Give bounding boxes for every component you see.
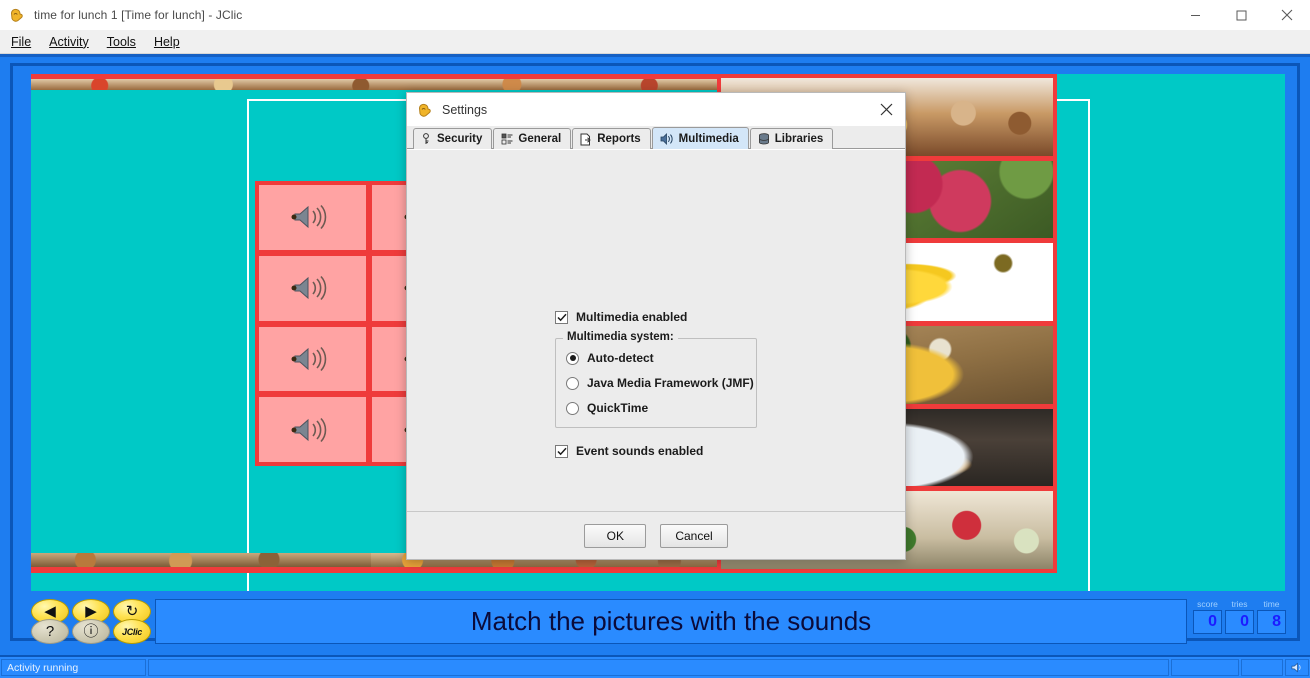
menu-activity-label: Activity bbox=[49, 35, 89, 49]
menu-file[interactable]: File bbox=[8, 33, 42, 51]
report-icon bbox=[580, 133, 592, 146]
dialog-close-icon[interactable] bbox=[871, 96, 901, 124]
jclic-logo-icon: JClic bbox=[122, 627, 142, 637]
multimedia-enabled-label: Multimedia enabled bbox=[576, 310, 687, 324]
quicktime-radio[interactable] bbox=[566, 402, 579, 415]
top-photo-strip bbox=[31, 74, 718, 90]
status-slot-b bbox=[1241, 659, 1283, 676]
tries-counter: tries 0 bbox=[1225, 599, 1254, 644]
score-label: score bbox=[1197, 599, 1218, 610]
multimedia-system-group: Multimedia system: Auto-detect Java Medi… bbox=[555, 338, 757, 428]
auto-detect-label: Auto-detect bbox=[587, 351, 654, 365]
database-icon bbox=[758, 133, 770, 145]
dialog-title-text: Settings bbox=[442, 103, 487, 117]
sound-cell[interactable] bbox=[259, 256, 366, 321]
radio-dot bbox=[570, 355, 576, 361]
tab-reports-label: Reports bbox=[597, 133, 640, 145]
ok-button[interactable]: OK bbox=[584, 524, 646, 548]
close-icon[interactable] bbox=[1264, 0, 1310, 30]
settings-dialog: Settings Security General bbox=[406, 92, 906, 560]
multimedia-enabled-row[interactable]: Multimedia enabled bbox=[555, 310, 765, 324]
menu-bar: File Activity Tools Help bbox=[0, 30, 1310, 54]
radio-row-auto-detect[interactable]: Auto-detect bbox=[566, 351, 746, 365]
question-mark-icon: ? bbox=[46, 624, 54, 639]
key-icon bbox=[421, 133, 432, 145]
score-counter: score 0 bbox=[1193, 599, 1222, 644]
time-value: 8 bbox=[1257, 610, 1286, 634]
info-icon: ⓘ bbox=[83, 624, 98, 639]
tab-general[interactable]: General bbox=[493, 128, 571, 149]
menu-tools[interactable]: Tools bbox=[104, 33, 147, 51]
activity-message-box: Match the pictures with the sounds bbox=[155, 599, 1187, 644]
dialog-body: Multimedia enabled Multimedia system: Au… bbox=[407, 149, 905, 511]
menu-help-label: Help bbox=[154, 35, 180, 49]
jclic-icon bbox=[9, 7, 25, 23]
speaker-icon bbox=[660, 133, 674, 145]
bottom-photo-strip-left bbox=[31, 553, 371, 573]
tab-security[interactable]: Security bbox=[413, 128, 492, 149]
menu-activity[interactable]: Activity bbox=[46, 33, 100, 51]
dialog-title-bar: Settings bbox=[407, 93, 905, 126]
help-button[interactable]: ? bbox=[31, 619, 69, 644]
tab-multimedia[interactable]: Multimedia bbox=[652, 127, 749, 149]
minimize-icon[interactable] bbox=[1172, 0, 1218, 30]
tab-multimedia-label: Multimedia bbox=[679, 133, 739, 145]
status-progress-area bbox=[148, 659, 1169, 676]
tries-value: 0 bbox=[1225, 610, 1254, 634]
event-sounds-enabled-checkbox[interactable] bbox=[555, 445, 568, 458]
info-button[interactable]: ⓘ bbox=[72, 619, 110, 644]
jclic-icon bbox=[417, 102, 433, 118]
tab-general-label: General bbox=[518, 133, 561, 145]
previous-arrow-icon: ◀ bbox=[44, 604, 56, 619]
time-counter: time 8 bbox=[1257, 599, 1286, 644]
maximize-icon[interactable] bbox=[1218, 0, 1264, 30]
jmf-radio[interactable] bbox=[566, 377, 579, 390]
player-button-pad: ◀ ▶ ↻ ? ⓘ JClic bbox=[31, 599, 151, 644]
event-sounds-enabled-row[interactable]: Event sounds enabled bbox=[555, 444, 765, 458]
reload-icon: ↻ bbox=[126, 604, 139, 619]
sound-cell[interactable] bbox=[259, 397, 366, 462]
status-message: Activity running bbox=[1, 659, 146, 676]
sound-cell[interactable] bbox=[259, 327, 366, 392]
window-title-bar: time for lunch 1 [Time for lunch] - JCli… bbox=[0, 0, 1310, 30]
status-bar: Activity running bbox=[0, 655, 1310, 678]
multimedia-settings-form: Multimedia enabled Multimedia system: Au… bbox=[555, 310, 765, 472]
menu-help[interactable]: Help bbox=[151, 33, 191, 51]
counters-panel: score 0 tries 0 time 8 bbox=[1193, 599, 1285, 644]
tries-label: tries bbox=[1231, 599, 1247, 610]
tab-libraries-label: Libraries bbox=[775, 133, 824, 145]
jmf-label: Java Media Framework (JMF) bbox=[587, 376, 754, 390]
window-title-text: time for lunch 1 [Time for lunch] - JCli… bbox=[34, 8, 242, 22]
radio-row-quicktime[interactable]: QuickTime bbox=[566, 401, 746, 415]
quicktime-label: QuickTime bbox=[587, 401, 648, 415]
tab-security-label: Security bbox=[437, 133, 482, 145]
multimedia-enabled-checkbox[interactable] bbox=[555, 311, 568, 324]
event-sounds-enabled-label: Event sounds enabled bbox=[576, 444, 703, 458]
next-arrow-icon: ▶ bbox=[85, 604, 97, 619]
auto-detect-radio[interactable] bbox=[566, 352, 579, 365]
score-value: 0 bbox=[1193, 610, 1222, 634]
status-slot-a bbox=[1171, 659, 1239, 676]
tab-libraries[interactable]: Libraries bbox=[750, 128, 834, 149]
cancel-button[interactable]: Cancel bbox=[660, 524, 727, 548]
activity-message-text: Match the pictures with the sounds bbox=[471, 606, 871, 637]
status-sound-icon[interactable] bbox=[1285, 659, 1309, 676]
dialog-footer: OK Cancel bbox=[407, 511, 905, 559]
time-label: time bbox=[1263, 599, 1279, 610]
tab-reports[interactable]: Reports bbox=[572, 128, 650, 149]
window-controls bbox=[1172, 0, 1310, 30]
jclic-logo-button[interactable]: JClic bbox=[113, 619, 151, 644]
menu-tools-label: Tools bbox=[107, 35, 136, 49]
dialog-tab-strip: Security General Reports Multimedia bbox=[407, 126, 905, 149]
radio-row-jmf[interactable]: Java Media Framework (JMF) bbox=[566, 376, 746, 390]
menu-file-label: File bbox=[11, 35, 31, 49]
list-icon bbox=[501, 133, 513, 145]
player-control-bar: ◀ ▶ ↻ ? ⓘ JClic Match the pictures with … bbox=[31, 599, 1285, 644]
jclic-player-window: time for lunch 1 [Time for lunch] - JCli… bbox=[0, 0, 1310, 678]
multimedia-system-group-title: Multimedia system: bbox=[563, 331, 678, 343]
sound-cell[interactable] bbox=[259, 185, 366, 250]
